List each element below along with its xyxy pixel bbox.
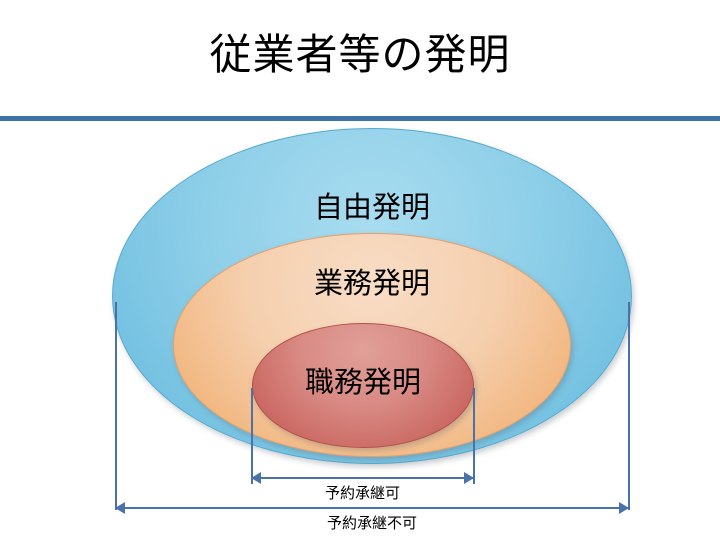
guide-line-outer-right bbox=[628, 302, 630, 510]
ellipse-label-business-invention: 業務発明 bbox=[174, 267, 570, 301]
diagram-canvas: 自由発明 業務発明 職務発明 予約承継可 予約承継不可 bbox=[0, 0, 720, 540]
slide: 従業者等の発明 自由発明 業務発明 職務発明 予約承継可 bbox=[0, 0, 720, 540]
arrow-line bbox=[115, 507, 629, 509]
measure-caption-advance-succession-allowed: 予約承継可 bbox=[251, 484, 474, 504]
ellipse-service-invention[interactable]: 職務発明 bbox=[252, 323, 474, 448]
arrow-right-icon bbox=[464, 472, 474, 484]
arrow-right-icon bbox=[619, 502, 629, 514]
guide-line-inner-left bbox=[251, 388, 253, 484]
guide-line-outer-left bbox=[115, 302, 117, 510]
ellipse-label-service-invention: 職務発明 bbox=[253, 366, 473, 400]
measure-arrow-advance-succession-allowed bbox=[251, 472, 474, 484]
arrow-left-icon bbox=[251, 472, 261, 484]
measure-caption-advance-succession-not-allowed: 予約承継不可 bbox=[115, 514, 629, 534]
arrow-line bbox=[251, 477, 474, 479]
measure-arrow-advance-succession-not-allowed bbox=[115, 502, 629, 514]
ellipse-label-free-invention: 自由発明 bbox=[113, 191, 631, 225]
arrow-left-icon bbox=[115, 502, 125, 514]
guide-line-inner-right bbox=[473, 388, 475, 484]
